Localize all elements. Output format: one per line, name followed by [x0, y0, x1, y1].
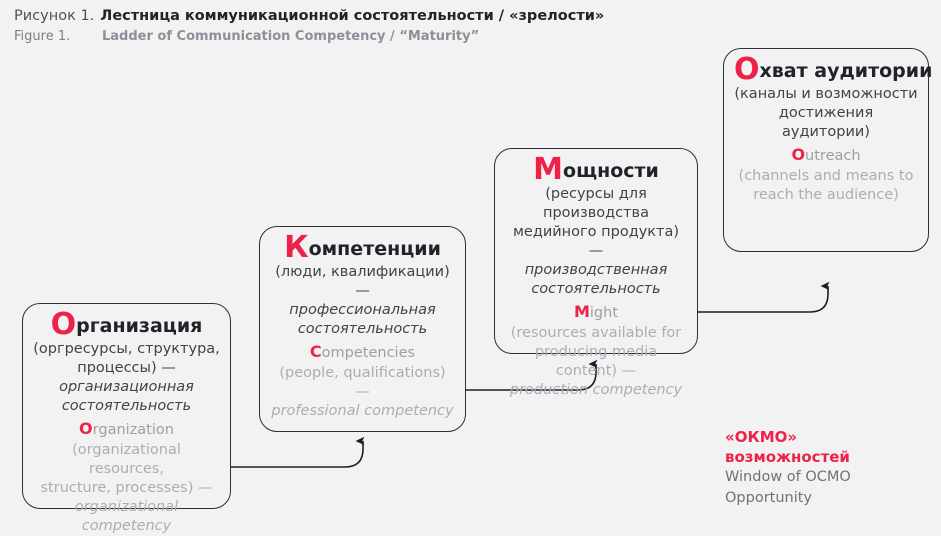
accent-capital-letter: О	[734, 52, 760, 87]
box-title-en-rest: ompetencies	[322, 345, 415, 361]
box-en-italic-line: professional competency	[270, 402, 455, 421]
box-title-competencies: Компетенции	[270, 235, 455, 262]
okmo-caption-ru-line2: возможностей	[725, 447, 925, 467]
step-box-might[interactable]: Мощности (ресурсы для производства медий…	[494, 148, 698, 354]
accent-capital-letter-en: O	[791, 145, 805, 164]
accent-capital-letter-en: O	[79, 419, 93, 438]
box-ru-line: (оргресурсы, структура,	[33, 340, 220, 359]
accent-capital-letter: К	[284, 230, 309, 265]
okmo-window-caption: «ОКМО» возможностей Window of OCMO Oppor…	[725, 427, 925, 509]
step-box-outreach[interactable]: Охват аудитории (каналы и возможности до…	[723, 48, 929, 252]
box-en-line: (channels and means to	[734, 167, 918, 186]
okmo-caption-en-line2: Opportunity	[725, 488, 925, 509]
accent-capital-letter: О	[51, 307, 77, 342]
box-ru-italic-line: состоятельность	[270, 320, 455, 339]
accent-capital-letter-en: M	[574, 302, 590, 321]
box-ru-line: (люди, квалификации) —	[270, 263, 455, 301]
box-title-rest: рганизация	[76, 315, 202, 337]
accent-capital-letter: М	[533, 152, 563, 187]
okmo-caption-ru-line1: «ОКМО»	[725, 427, 925, 447]
box-ru-line: (ресурсы для производства	[505, 185, 687, 223]
box-title-rest: ощности	[563, 160, 659, 182]
box-en-line: (resources available for	[505, 324, 687, 343]
box-title-rest: омпетенции	[309, 238, 441, 260]
box-title-en-competencies: Competencies	[270, 341, 455, 364]
box-ru-italic-line: производственная	[505, 261, 687, 280]
box-title-rest: хват аудитории	[760, 60, 933, 82]
box-en-italic-line: production competency	[505, 381, 687, 400]
box-ru-line: (каналы и возможности	[734, 85, 918, 104]
arrow-might-to-outreach	[698, 286, 828, 312]
box-title-en-rest: rganization	[93, 422, 174, 438]
box-ru-italic-line: состоятельность	[33, 397, 220, 416]
box-ru-line: процессы) —	[33, 359, 220, 378]
figure-canvas: Рисунок 1.Лестница коммуникационной сост…	[0, 0, 941, 517]
step-box-competencies[interactable]: Компетенции (люди, квалификации) — профе…	[259, 226, 466, 432]
box-title-en-rest: ight	[590, 305, 618, 321]
box-title-organization: Организация	[33, 312, 220, 339]
box-title-might: Мощности	[505, 157, 687, 184]
box-ru-italic-line: профессиональная	[270, 301, 455, 320]
box-en-line: producing media content) —	[505, 343, 687, 381]
box-ru-italic-line: организационная	[33, 378, 220, 397]
box-ru-line: медийного продукта) —	[505, 223, 687, 261]
box-title-en-might: Might	[505, 301, 687, 324]
box-ru-line: достижения аудитории)	[734, 104, 918, 142]
box-en-line: (people, qualifications) —	[270, 364, 455, 402]
box-title-outreach: Охват аудитории	[734, 57, 918, 84]
box-ru-italic-line: состоятельность	[505, 280, 687, 299]
arrow-organization-to-competencies	[231, 441, 363, 467]
box-en-line: (organizational resources,	[33, 441, 220, 479]
box-title-en-rest: utreach	[805, 148, 861, 164]
box-en-italic-line: organizational competency	[33, 498, 220, 536]
box-en-line: reach the audience)	[734, 186, 918, 205]
accent-capital-letter-en: C	[310, 342, 322, 361]
box-title-en-organization: Organization	[33, 418, 220, 441]
okmo-caption-en-line1: Window of OCMO	[725, 467, 925, 488]
step-box-organization[interactable]: Организация (оргресурсы, структура, проц…	[22, 303, 231, 509]
box-title-en-outreach: Outreach	[734, 144, 918, 167]
box-en-line: structure, processes) —	[33, 479, 220, 498]
